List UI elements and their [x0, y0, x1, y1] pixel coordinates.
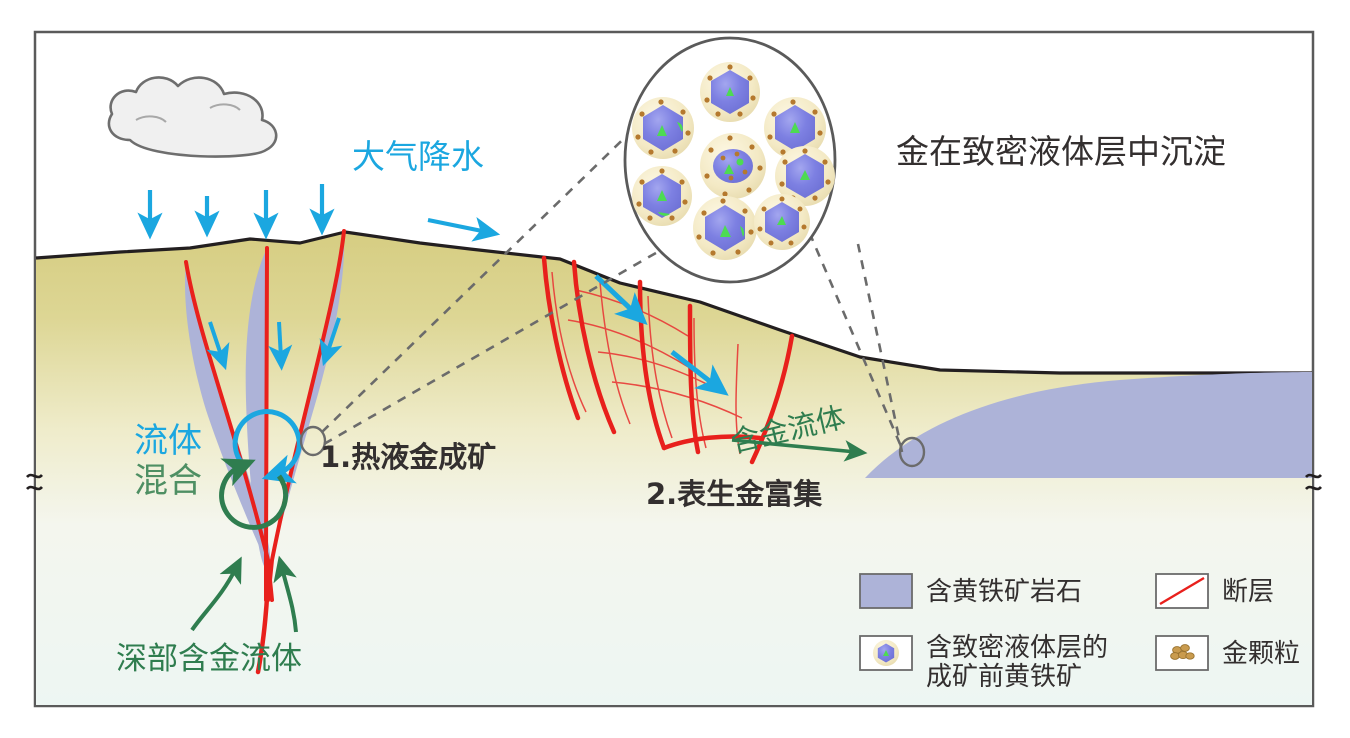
geology-diagram	[0, 0, 1350, 738]
label-inset-caption: 金在致密液体层中沉淀	[896, 134, 1226, 171]
pyrite-grain	[754, 194, 810, 250]
legend-icon-pyrite-rock	[860, 574, 912, 608]
legend-label-pyrite-rock: 含黄铁矿岩石	[926, 578, 1082, 607]
label-stage-2: 2.表生金富集	[646, 478, 822, 510]
legend-icon-pyrite-grain	[873, 640, 899, 666]
pyrite-grain	[693, 196, 757, 260]
pyrite-grain	[700, 62, 760, 122]
legend-label-gold-particle: 金颗粒	[1222, 640, 1300, 669]
fault-line-2	[266, 248, 267, 600]
label-fluid-mixing-line2: 混合	[134, 462, 202, 500]
pyrite-grain	[632, 166, 692, 226]
label-deep-gold-fluid: 深部含金流体	[116, 642, 302, 677]
legend-label-fault: 断层	[1222, 578, 1274, 607]
label-stage-1: 1.热液金成矿	[320, 441, 496, 473]
figure-canvas: 大气降水 流体 混合 1.热液金成矿 2.表生金富集 含金流体 深部含金流体 金…	[0, 0, 1350, 738]
inset-magnifier	[625, 38, 835, 282]
label-fluid-mixing-line1: 流体	[134, 422, 202, 460]
pyrite-grain	[632, 97, 694, 159]
pyrite-grain-central	[700, 133, 766, 199]
rain-arrows	[150, 184, 322, 226]
label-precipitation: 大气降水	[352, 139, 484, 176]
cloud-icon	[109, 77, 276, 156]
surface-flow-arrow	[428, 220, 487, 232]
legend-label-pre-ore-pyrite: 含致密液体层的 成矿前黄铁矿	[926, 634, 1108, 692]
